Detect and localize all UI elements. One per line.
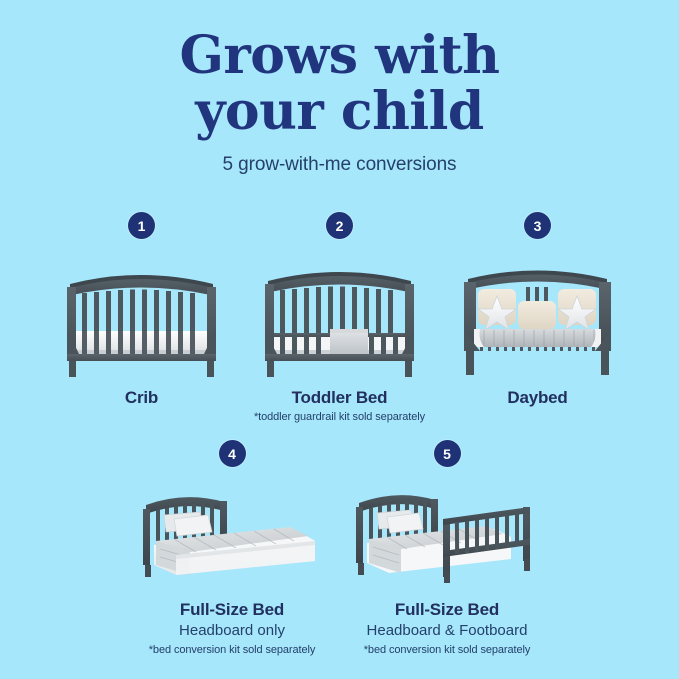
toddler-bed-title: Toddler Bed xyxy=(254,387,425,408)
daybed-caption: Daybed xyxy=(507,387,567,408)
full-size-bed-headboard-footboard-title: Full-Size Bed xyxy=(364,599,531,620)
page-header: Grows with your child 5 grow-with-me con… xyxy=(0,28,679,176)
page-title-line1: Grows with xyxy=(180,25,500,86)
conversion-item-crib: 1 xyxy=(49,212,235,425)
full-size-bed-headboard-note: *bed conversion kit sold separately xyxy=(149,643,316,657)
step-badge-4: 4 xyxy=(219,440,246,467)
daybed-title: Daybed xyxy=(507,387,567,408)
conversion-item-daybed: 3 xyxy=(445,212,631,425)
full-size-bed-headboard-caption: Full-Size Bed Headboard only *bed conver… xyxy=(149,599,316,657)
conversion-row-top: 1 xyxy=(0,212,679,425)
page-subtitle: 5 grow-with-me conversions xyxy=(0,154,679,176)
step-badge-5: 5 xyxy=(434,440,461,467)
page-title: Grows with your child xyxy=(0,28,679,140)
full-size-bed-headboard-illustration xyxy=(130,479,335,589)
conversion-item-full-size-bed-headboard-footboard: 5 xyxy=(340,440,555,657)
infographic-page: Grows with your child 5 grow-with-me con… xyxy=(0,0,679,679)
conversion-row-bottom: 4 xyxy=(0,440,679,657)
step-badge-3: 3 xyxy=(524,212,551,239)
step-badge-1: 1 xyxy=(128,212,155,239)
step-badge-2: 2 xyxy=(326,212,353,239)
toddler-bed-note: *toddler guardrail kit sold separately xyxy=(254,410,425,424)
conversion-item-toddler-bed: 2 xyxy=(247,212,433,425)
full-size-bed-headboard-footboard-subtitle: Headboard & Footboard xyxy=(364,621,531,641)
full-size-bed-headboard-footboard-caption: Full-Size Bed Headboard & Footboard *bed… xyxy=(364,599,531,657)
conversion-item-full-size-bed-headboard: 4 xyxy=(125,440,340,657)
crib-illustration xyxy=(54,251,229,381)
toddler-bed-illustration xyxy=(252,251,427,381)
crib-title: Crib xyxy=(125,387,158,408)
full-size-bed-headboard-title: Full-Size Bed xyxy=(149,599,316,620)
full-size-bed-headboard-footboard-illustration xyxy=(345,479,550,589)
page-title-line2: your child xyxy=(0,84,679,140)
full-size-bed-headboard-subtitle: Headboard only xyxy=(149,621,316,641)
crib-caption: Crib xyxy=(125,387,158,408)
toddler-bed-caption: Toddler Bed *toddler guardrail kit sold … xyxy=(254,387,425,425)
full-size-bed-headboard-footboard-note: *bed conversion kit sold separately xyxy=(364,643,531,657)
daybed-illustration xyxy=(450,251,625,381)
